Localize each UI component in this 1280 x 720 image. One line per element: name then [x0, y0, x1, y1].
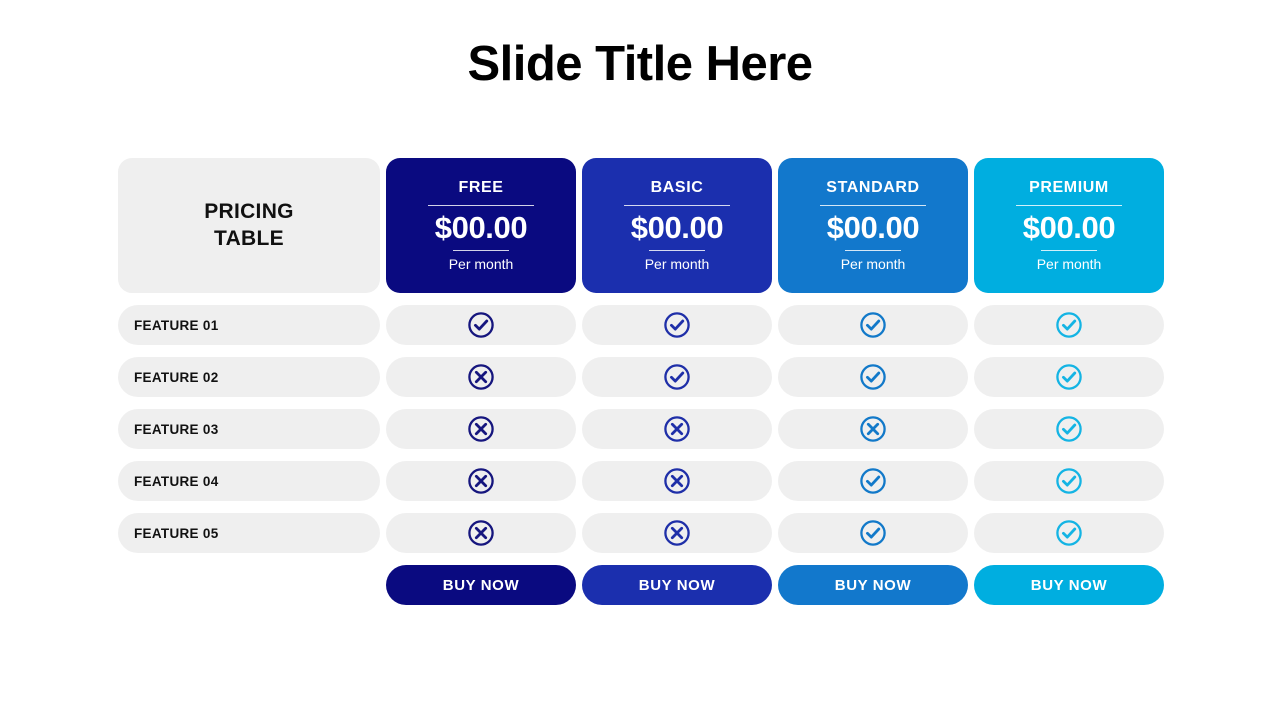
feature-mark-wrap [386, 305, 576, 345]
buy-row: BUY NOW BUY NOW BUY NOW BUY NOW [118, 565, 1164, 605]
brand-label-line1: PRICING [204, 200, 294, 223]
feature-mark-wrap [974, 409, 1164, 449]
cross-circle-icon [663, 467, 691, 495]
feature-mark-cell [582, 513, 772, 553]
feature-label: FEATURE 05 [118, 513, 380, 553]
feature-mark-wrap [778, 357, 968, 397]
pricing-header-row: PRICING TABLE FREE$00.00Per month BASIC$… [118, 158, 1164, 293]
feature-mark-cell [778, 513, 968, 553]
feature-mark-wrap [386, 513, 576, 553]
feature-mark-wrap [778, 513, 968, 553]
feature-mark-wrap [582, 305, 772, 345]
pricing-table: PRICING TABLE FREE$00.00Per month BASIC$… [118, 158, 1164, 605]
feature-mark-wrap [974, 305, 1164, 345]
buy-cell-basic: BUY NOW [582, 565, 772, 605]
feature-mark-cell [582, 305, 772, 345]
plan-price: $00.00 [827, 212, 919, 245]
brand-label-line2: TABLE [214, 227, 284, 250]
brand-cell: PRICING TABLE [118, 158, 380, 293]
plan-name: PREMIUM [1029, 180, 1109, 196]
feature-mark-cell [778, 305, 968, 345]
buy-now-button[interactable]: BUY NOW [778, 565, 968, 605]
feature-label-wrap: FEATURE 01 [118, 305, 380, 345]
feature-label: FEATURE 02 [118, 357, 380, 397]
buy-now-button[interactable]: BUY NOW [386, 565, 576, 605]
feature-mark-cell [582, 357, 772, 397]
plan-card[interactable]: FREE$00.00Per month [386, 158, 576, 293]
check-circle-icon [663, 363, 691, 391]
feature-label-wrap: FEATURE 04 [118, 461, 380, 501]
plan-divider-top [624, 205, 730, 206]
check-circle-icon [1055, 519, 1083, 547]
buy-cell-free: BUY NOW [386, 565, 576, 605]
buy-cell-standard: BUY NOW [778, 565, 968, 605]
feature-mark-wrap [386, 461, 576, 501]
feature-mark-wrap [582, 513, 772, 553]
plan-period: Per month [645, 257, 710, 271]
plan-divider-top [1016, 205, 1122, 206]
check-circle-icon [859, 467, 887, 495]
table-row: FEATURE 02 [118, 357, 1164, 397]
check-circle-icon [663, 311, 691, 339]
pricing-table-slide: Slide Title Here PRICING TABLE FREE$00.0… [0, 0, 1280, 720]
feature-mark-cell [582, 461, 772, 501]
cross-circle-icon [467, 363, 495, 391]
feature-mark-cell [778, 357, 968, 397]
feature-mark-cell [386, 409, 576, 449]
brand-label: PRICING TABLE [204, 199, 294, 253]
feature-mark-cell [778, 409, 968, 449]
table-row: FEATURE 04 [118, 461, 1164, 501]
cross-circle-icon [467, 467, 495, 495]
feature-mark-cell [974, 409, 1164, 449]
plan-divider-bottom [649, 250, 705, 251]
plan-period: Per month [449, 257, 514, 271]
buy-now-button[interactable]: BUY NOW [582, 565, 772, 605]
feature-mark-cell [582, 409, 772, 449]
feature-mark-cell [974, 357, 1164, 397]
plan-price: $00.00 [1023, 212, 1115, 245]
table-row: FEATURE 05 [118, 513, 1164, 553]
feature-mark-wrap [778, 305, 968, 345]
plan-card[interactable]: PREMIUM$00.00Per month [974, 158, 1164, 293]
feature-mark-wrap [778, 409, 968, 449]
plan-divider-top [428, 205, 534, 206]
check-circle-icon [1055, 467, 1083, 495]
feature-rows: FEATURE 01FEATURE 02FEATURE 03FEATURE 04… [118, 305, 1164, 553]
check-circle-icon [859, 363, 887, 391]
feature-mark-wrap [582, 461, 772, 501]
cross-circle-icon [663, 415, 691, 443]
cross-circle-icon [663, 519, 691, 547]
plan-divider-top [820, 205, 926, 206]
feature-label-wrap: FEATURE 02 [118, 357, 380, 397]
feature-label: FEATURE 03 [118, 409, 380, 449]
feature-label-wrap: FEATURE 03 [118, 409, 380, 449]
plan-price: $00.00 [435, 212, 527, 245]
feature-mark-wrap [974, 357, 1164, 397]
cross-circle-icon [859, 415, 887, 443]
feature-mark-wrap [974, 461, 1164, 501]
feature-label: FEATURE 01 [118, 305, 380, 345]
buy-now-button[interactable]: BUY NOW [974, 565, 1164, 605]
page-title: Slide Title Here [0, 38, 1280, 92]
feature-mark-cell [974, 461, 1164, 501]
cross-circle-icon [467, 415, 495, 443]
plan-divider-bottom [845, 250, 901, 251]
plan-divider-bottom [453, 250, 509, 251]
feature-mark-wrap [386, 357, 576, 397]
plan-name: BASIC [651, 180, 704, 196]
plan-divider-bottom [1041, 250, 1097, 251]
feature-mark-cell [386, 461, 576, 501]
plan-card[interactable]: BASIC$00.00Per month [582, 158, 772, 293]
buy-cell-premium: BUY NOW [974, 565, 1164, 605]
plan-card[interactable]: STANDARD$00.00Per month [778, 158, 968, 293]
table-row: FEATURE 03 [118, 409, 1164, 449]
table-row: FEATURE 01 [118, 305, 1164, 345]
check-circle-icon [859, 311, 887, 339]
cross-circle-icon [467, 519, 495, 547]
plan-period: Per month [1037, 257, 1102, 271]
check-circle-icon [859, 519, 887, 547]
feature-mark-cell [974, 305, 1164, 345]
feature-mark-wrap [582, 357, 772, 397]
plan-header-free: FREE$00.00Per month [386, 158, 576, 293]
feature-mark-cell [386, 305, 576, 345]
feature-label: FEATURE 04 [118, 461, 380, 501]
plan-header-basic: BASIC$00.00Per month [582, 158, 772, 293]
check-circle-icon [1055, 311, 1083, 339]
feature-mark-cell [974, 513, 1164, 553]
plan-name: STANDARD [826, 180, 919, 196]
feature-mark-cell [386, 513, 576, 553]
plan-header-standard: STANDARD$00.00Per month [778, 158, 968, 293]
feature-mark-cell [778, 461, 968, 501]
feature-mark-wrap [778, 461, 968, 501]
feature-mark-wrap [582, 409, 772, 449]
plan-header-premium: PREMIUM$00.00Per month [974, 158, 1164, 293]
check-circle-icon [1055, 415, 1083, 443]
feature-label-wrap: FEATURE 05 [118, 513, 380, 553]
brand-cell-wrap: PRICING TABLE [118, 158, 380, 293]
check-circle-icon [467, 311, 495, 339]
feature-mark-wrap [974, 513, 1164, 553]
feature-mark-cell [386, 357, 576, 397]
plan-price: $00.00 [631, 212, 723, 245]
feature-mark-wrap [386, 409, 576, 449]
plan-name: FREE [458, 180, 503, 196]
check-circle-icon [1055, 363, 1083, 391]
buy-row-spacer [118, 565, 380, 605]
plan-period: Per month [841, 257, 906, 271]
